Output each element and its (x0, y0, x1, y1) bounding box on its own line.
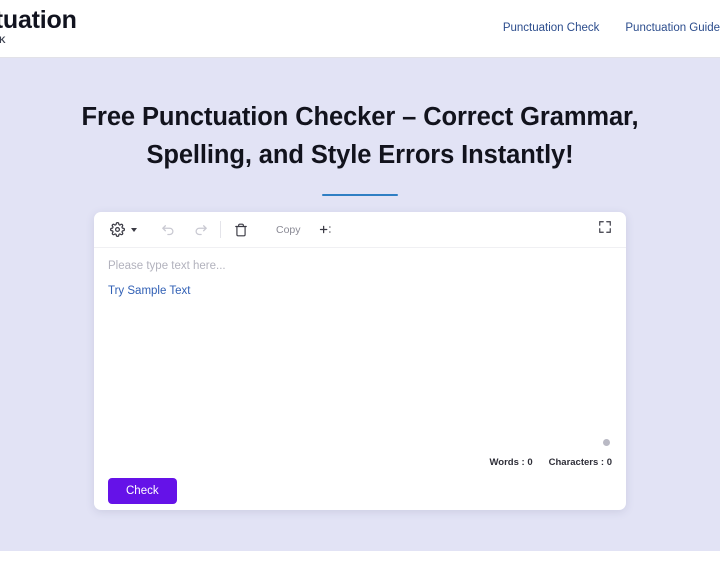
nav-link-punctuation-guide[interactable]: Punctuation Guide (625, 22, 720, 34)
status-dot (603, 439, 610, 446)
page-title: Free Punctuation Checker – Correct Gramm… (0, 58, 720, 174)
character-count: Characters : 0 (549, 457, 612, 468)
word-count: Words : 0 (490, 457, 533, 468)
site-logo[interactable]: nctuation E C K (0, 8, 77, 45)
chevron-down-icon[interactable] (131, 228, 137, 232)
editor-text-area[interactable]: Please type text here... Try Sample Text… (94, 248, 626, 472)
editor-card: Copy Please type text here... (94, 212, 626, 510)
title-divider (322, 194, 398, 196)
logo-secondary-text: E C K (0, 36, 77, 45)
settings-control[interactable] (106, 219, 137, 241)
toolbar-divider (220, 221, 221, 238)
undo-icon[interactable] (157, 219, 179, 241)
check-button[interactable]: Check (108, 478, 177, 504)
counter-group: Words : 0 Characters : 0 (490, 457, 612, 468)
editor-placeholder: Please type text here... (108, 260, 612, 272)
hero-section: Free Punctuation Checker – Correct Gramm… (0, 58, 720, 551)
site-header: nctuation E C K Punctuation Check Punctu… (0, 0, 720, 58)
redo-icon[interactable] (189, 219, 211, 241)
logo-primary-text: nctuation (0, 8, 77, 33)
copy-button[interactable]: Copy (272, 224, 305, 236)
editor-footer: Check (94, 472, 626, 510)
page-title-line-2: Spelling, and Style Errors Instantly! (0, 136, 720, 174)
nav-link-punctuation-check[interactable]: Punctuation Check (503, 22, 600, 34)
try-sample-text-link[interactable]: Try Sample Text (108, 285, 190, 297)
page-title-line-1: Free Punctuation Checker – Correct Gramm… (0, 98, 720, 136)
plus-list-icon[interactable] (315, 219, 337, 241)
trash-icon[interactable] (230, 219, 252, 241)
fullscreen-icon[interactable] (598, 220, 612, 234)
main-navigation: Punctuation Check Punctuation Guide (503, 22, 720, 34)
editor-toolbar: Copy (94, 212, 626, 248)
gear-icon[interactable] (106, 219, 128, 241)
